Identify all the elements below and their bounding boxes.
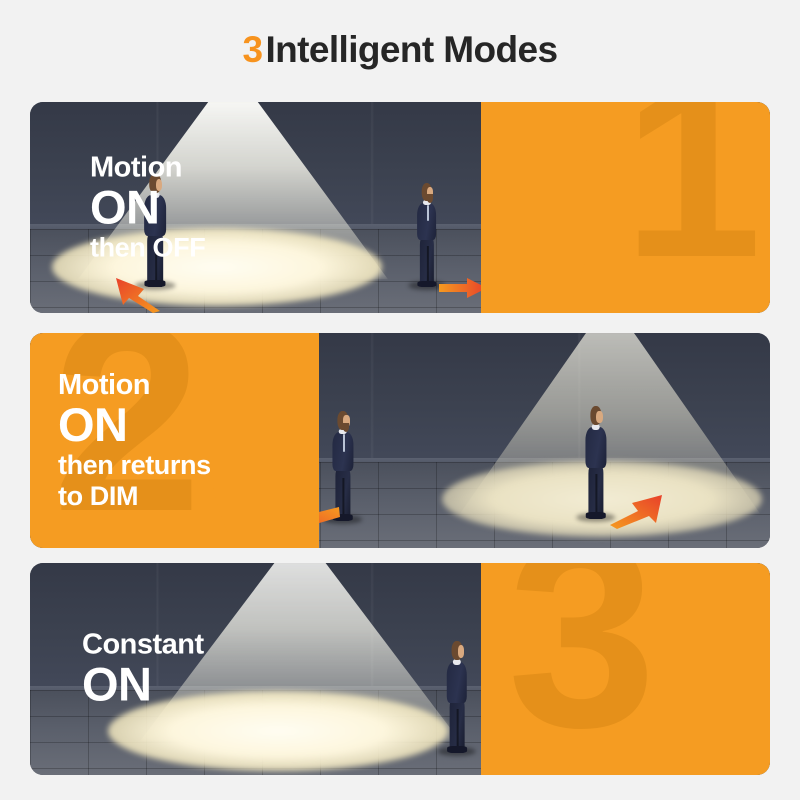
mode-caption-1: Motion ON then OFF [90,151,205,264]
mode-panel-2[interactable]: 2 Motion ON then returns to DIM [30,333,770,548]
caption-line-1: Motion [58,369,211,401]
figure-legs [419,238,433,287]
caption-line-1: Constant [82,628,204,660]
figure-face [596,411,603,423]
figure-face [458,645,464,657]
figure-legs [588,466,603,519]
page-title-text: Intelligent Modes [266,29,558,70]
figure-torso [585,427,606,468]
caption-line-3: then OFF [90,233,205,264]
figure-shoes [417,281,436,287]
figure-shoes [585,512,605,519]
mode-caption-2: Motion ON then returns to DIM [58,369,211,513]
figure-shoes [447,746,467,753]
curved-divider [208,333,318,548]
figure-torso [447,662,467,702]
caption-line-3: then returns [58,450,211,481]
caption-block-3: 3 [481,563,770,775]
curved-divider [481,102,591,313]
figure-legs [450,700,465,753]
figure-outside-light [441,641,473,753]
arrow-entering-icon [608,491,670,529]
caption-block-1: 1 [481,102,770,313]
page-title-number: 3 [243,29,263,70]
caption-line-2: ON [58,401,211,450]
mode-panel-1[interactable]: 1 Motion ON then OFF [30,102,770,313]
mode-caption-3: Constant ON [82,628,204,709]
page-title: 3Intelligent Modes [243,29,558,71]
caption-line-2: ON [82,661,204,710]
figure-tie [427,205,429,222]
curved-divider [481,563,591,775]
figure-outside-light [411,183,442,287]
caption-line-2: ON [90,184,205,233]
arrow-entering-icon [108,275,164,313]
caption-line-1: Motion [90,151,205,183]
page-header: 3Intelligent Modes [0,0,800,100]
figure-beard [343,423,349,432]
watermark-number-1: 1 [623,102,762,267]
mode-panel-3[interactable]: 3 Constant ON [30,563,770,775]
caption-line-4: to DIM [58,481,211,512]
figure-beard [427,194,432,202]
